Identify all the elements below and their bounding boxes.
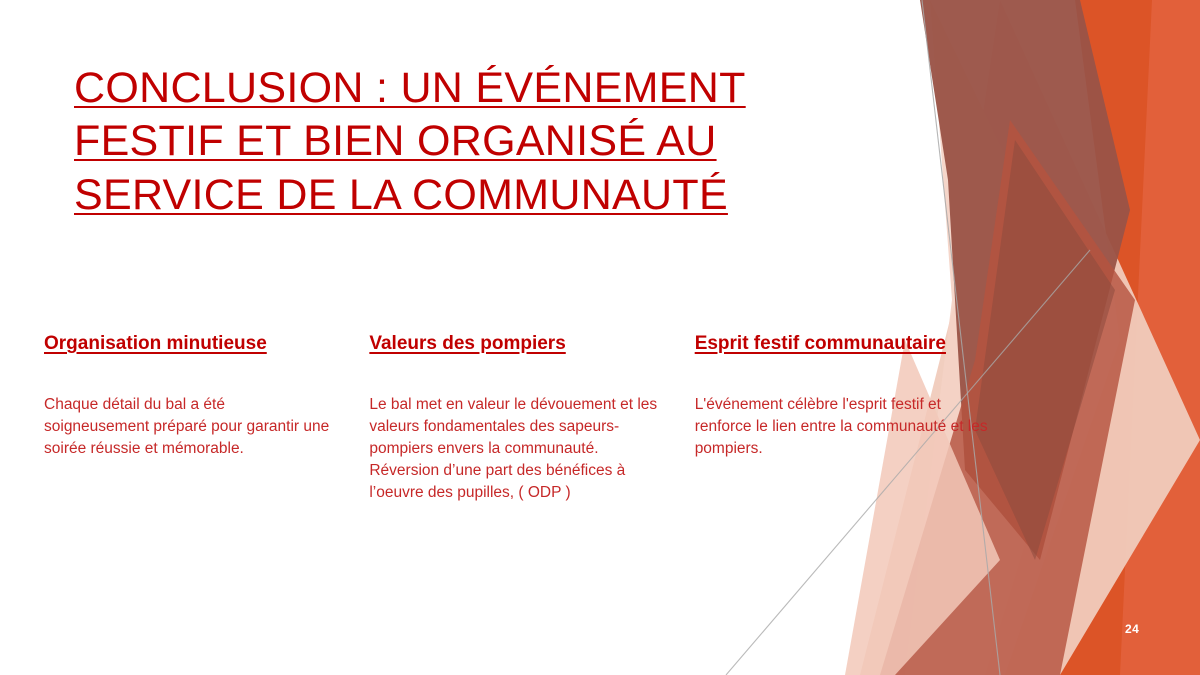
content-column-esprit: Esprit festif communautaire L'événement … xyxy=(695,333,994,460)
column-heading-organisation: Organisation minutieuse xyxy=(44,333,333,356)
content-column-valeurs: Valeurs des pompiers Le bal met en valeu… xyxy=(369,333,694,504)
page-title: CONCLUSION : UN ÉVÉNEMENT FESTIF ET BIEN… xyxy=(74,62,774,222)
presentation-slide: CONCLUSION : UN ÉVÉNEMENT FESTIF ET BIEN… xyxy=(0,0,1200,675)
content-column-organisation: Organisation minutieuse Chaque détail du… xyxy=(44,333,369,460)
column-heading-esprit: Esprit festif communautaire xyxy=(695,333,994,356)
dark-overlap-sliver xyxy=(975,140,1115,560)
column-body-valeurs: Le bal met en valeur le dévouement et le… xyxy=(369,394,658,504)
orange-band-far-right xyxy=(1005,0,1200,675)
slide-number: 24 xyxy=(1125,622,1139,636)
orange-band-right xyxy=(1120,0,1200,675)
column-body-esprit: L'événement célèbre l'esprit festif et r… xyxy=(695,394,994,460)
column-heading-valeurs: Valeurs des pompiers xyxy=(369,333,658,356)
column-body-organisation: Chaque détail du bal a été soigneusement… xyxy=(44,394,333,460)
title-block: CONCLUSION : UN ÉVÉNEMENT FESTIF ET BIEN… xyxy=(74,62,774,222)
content-columns: Organisation minutieuse Chaque détail du… xyxy=(44,333,994,504)
